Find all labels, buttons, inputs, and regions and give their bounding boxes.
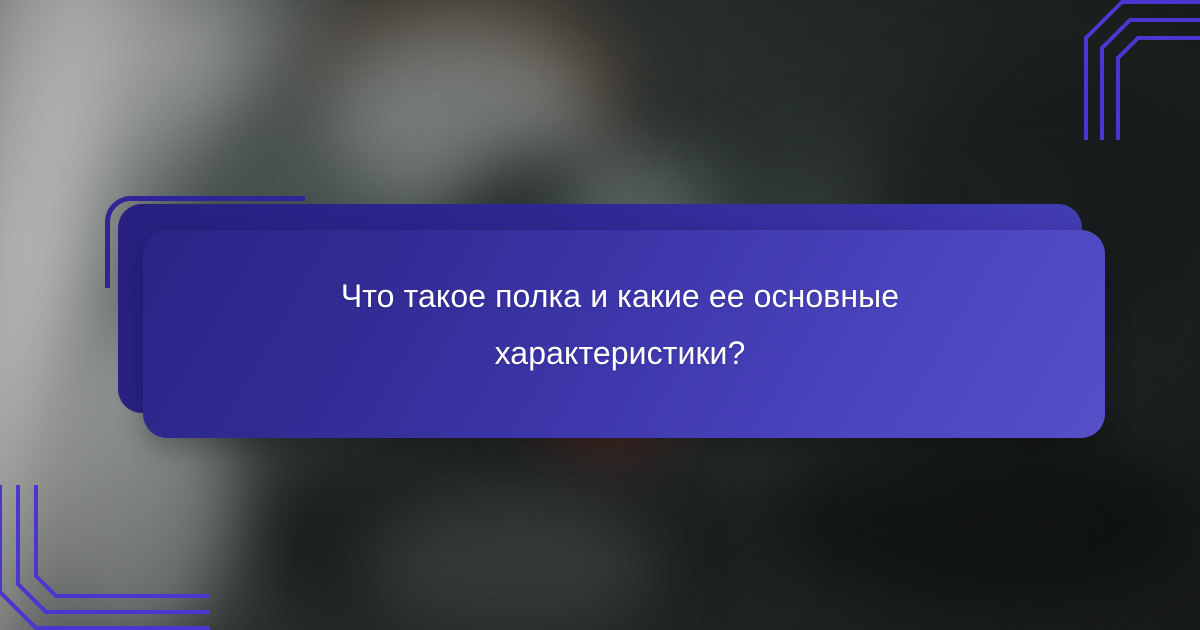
question-card-stack: Что такое полка и какие ее основные хара…: [0, 0, 1200, 630]
question-headline: Что такое полка и какие ее основные хара…: [170, 268, 1070, 382]
share-card-canvas: Что такое полка и какие ее основные хара…: [0, 0, 1200, 630]
